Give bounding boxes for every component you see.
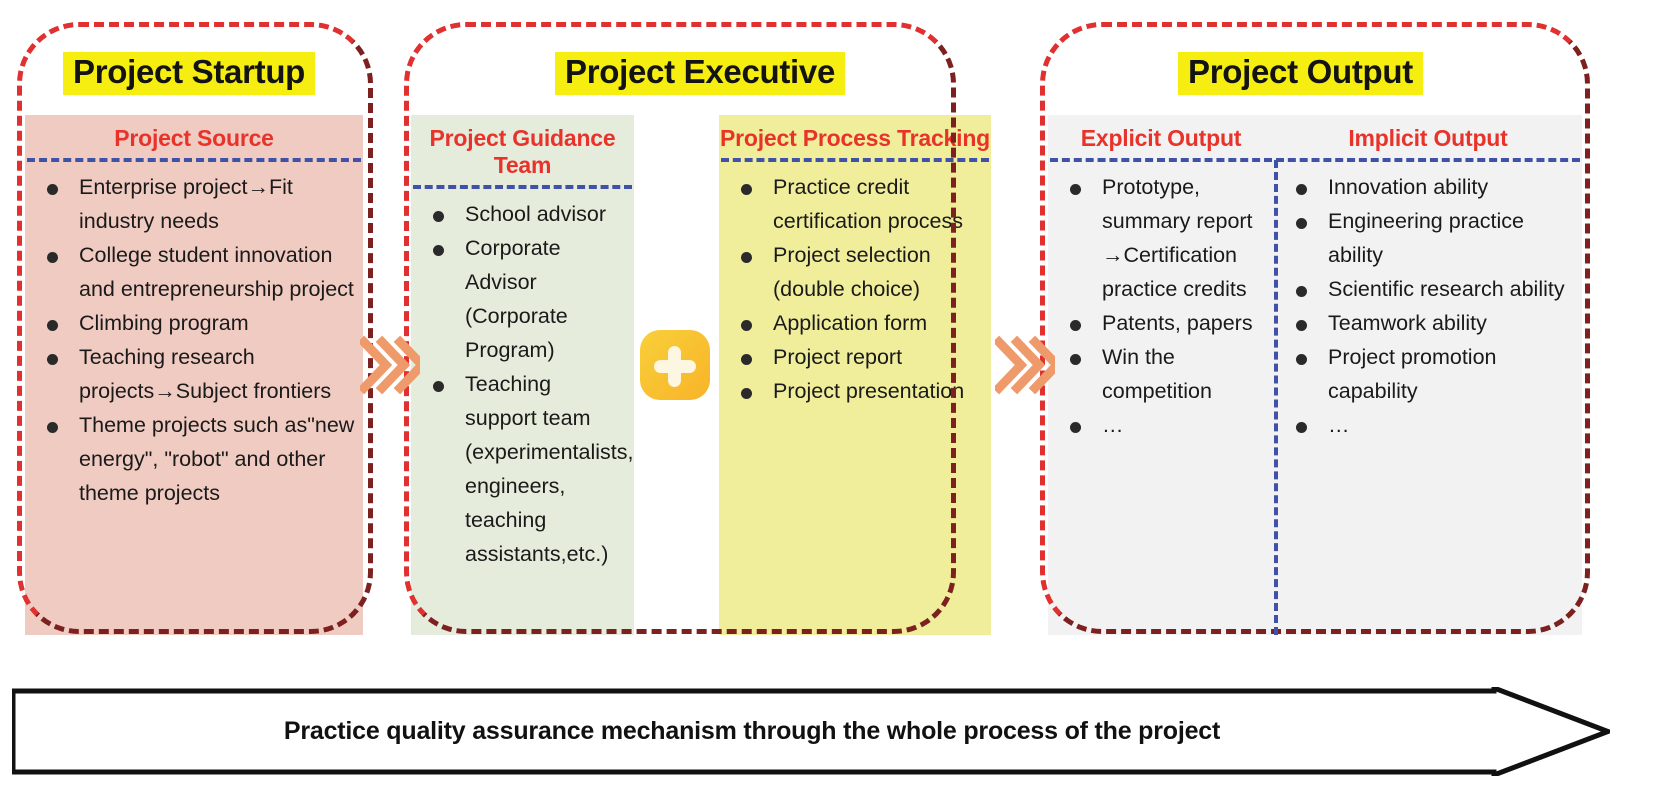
list-item: School advisor [425, 198, 628, 232]
column-project-guidance-team: Project Guidance Team School advisor Cor… [411, 115, 634, 635]
list-project-guidance-team: School advisor Corporate Advisor (Corpor… [411, 189, 634, 572]
column-heading-project-process-tracking: Project Process Tracking [719, 115, 991, 152]
list-item: Application form [733, 307, 985, 341]
list-implicit-output: Innovation ability Engineering practice … [1274, 162, 1582, 443]
list-item: Prototype, summary report →Certification… [1062, 171, 1268, 307]
list-item: Climbing program [39, 307, 357, 341]
list-item: Project promotion capability [1288, 341, 1576, 409]
list-project-process-tracking: Practice credit certification process Pr… [719, 162, 991, 409]
list-project-source: Enterprise project→Fit industry needs Co… [25, 162, 363, 511]
column-heading-project-source: Project Source [25, 115, 363, 152]
output-column-divider [1274, 160, 1278, 635]
diagram-canvas: Project Source Enterprise project→Fit in… [0, 0, 1678, 803]
column-explicit-output: Explicit Output Prototype, summary repor… [1048, 115, 1274, 635]
list-item: College student innovation and entrepren… [39, 239, 357, 307]
column-heading-project-guidance-team: Project Guidance Team [411, 115, 634, 179]
list-explicit-output: Prototype, summary report →Certification… [1048, 162, 1274, 443]
list-item: … [1062, 409, 1268, 443]
plus-icon [640, 330, 710, 400]
list-item: … [1288, 409, 1576, 443]
list-item: Practice credit certification process [733, 171, 985, 239]
list-item: Corporate Advisor (Corporate Program) [425, 232, 628, 368]
chevron-double-right-icon [360, 330, 420, 405]
list-item: Teamwork ability [1288, 307, 1576, 341]
list-item: Innovation ability [1288, 171, 1576, 205]
stage-title-project-executive: Project Executive [555, 52, 845, 95]
list-item: Project report [733, 341, 985, 375]
stage-title-project-startup: Project Startup [63, 52, 315, 95]
stage-title-project-output: Project Output [1178, 52, 1423, 95]
column-heading-implicit-output: Implicit Output [1274, 115, 1582, 152]
column-project-process-tracking: Project Process Tracking Practice credit… [719, 115, 991, 635]
list-item: Engineering practice ability [1288, 205, 1576, 273]
column-heading-explicit-output: Explicit Output [1048, 115, 1274, 152]
list-item: Teaching research projects→Subject front… [39, 341, 357, 409]
list-item: Project presentation [733, 375, 985, 409]
list-item: Project selection (double choice) [733, 239, 985, 307]
list-item: Win the competition [1062, 341, 1268, 409]
chevron-double-right-icon [995, 330, 1055, 405]
column-implicit-output: Implicit Output Innovation ability Engin… [1274, 115, 1582, 635]
column-project-source: Project Source Enterprise project→Fit in… [25, 115, 363, 635]
list-item: Teaching support team (experimentalists,… [425, 368, 628, 572]
list-item: Theme projects such as"new energy", "rob… [39, 409, 357, 511]
list-item: Enterprise project→Fit industry needs [39, 171, 357, 239]
plus-vertical-bar [668, 346, 681, 387]
list-item: Patents, papers [1062, 307, 1268, 341]
list-item: Scientific research ability [1288, 273, 1576, 307]
process-arrow-banner-label: Practice quality assurance mechanism thr… [12, 687, 1492, 776]
